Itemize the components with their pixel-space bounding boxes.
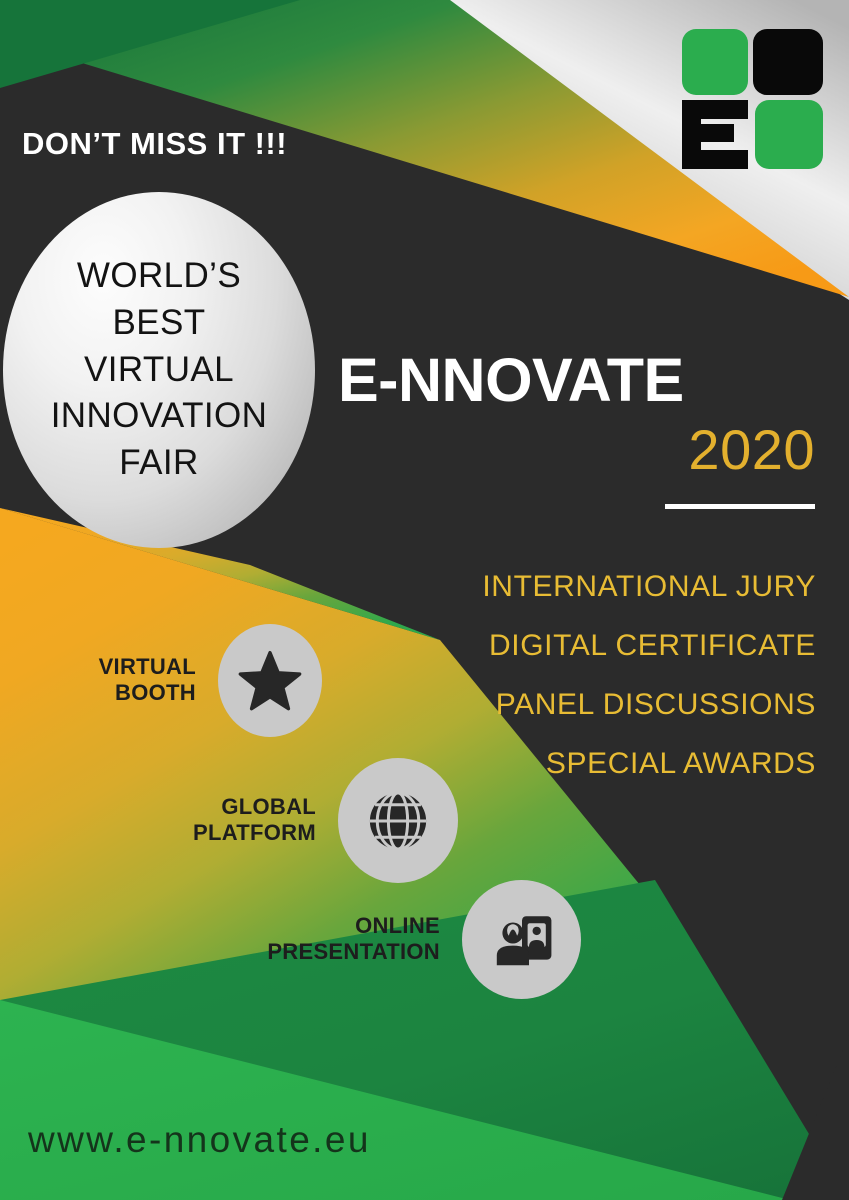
logo-tile-black-top-right xyxy=(753,29,823,95)
highlight-virtual-booth: VIRTUAL BOOTH xyxy=(218,624,322,737)
highlight-label-virtual-booth: VIRTUAL BOOTH xyxy=(99,654,196,708)
highlight-label-line1: GLOBAL xyxy=(193,794,316,821)
highlight-disc xyxy=(462,880,581,999)
globe-icon xyxy=(361,784,435,858)
highlight-disc xyxy=(218,624,322,737)
highlight-label-line2: PLATFORM xyxy=(193,821,316,848)
title-divider xyxy=(665,504,815,509)
badge-line-1: WORLD’S xyxy=(51,253,268,300)
feature-item-panel-discussions: PANEL DISCUSSIONS xyxy=(482,690,816,720)
e-nnovate-logo xyxy=(681,28,824,170)
event-title: E-NNOVATE xyxy=(338,350,820,411)
logo-tile-green-top-left xyxy=(682,29,748,95)
highlight-online-presentation: ONLINE PRESENTATION xyxy=(462,880,581,999)
logo-mark xyxy=(681,28,824,170)
highlight-disc xyxy=(338,758,458,883)
badge-line-4: INNOVATION xyxy=(51,393,268,440)
star-icon xyxy=(237,648,303,714)
video-call-icon xyxy=(487,905,557,975)
brand-block: E-NNOVATE 2020 xyxy=(330,350,820,509)
highlight-label-line1: ONLINE xyxy=(267,913,440,940)
website-url[interactable]: www.e-nnovate.eu xyxy=(28,1119,371,1161)
highlight-label-line2: PRESENTATION xyxy=(267,940,440,967)
logo-tile-green-bottom-right xyxy=(755,100,823,169)
highlight-label-global-platform: GLOBAL PLATFORM xyxy=(193,794,316,848)
feature-list: INTERNATIONAL JURY DIGITAL CERTIFICATE P… xyxy=(482,572,816,808)
world-best-badge: WORLD’S BEST VIRTUAL INNOVATION FAIR xyxy=(3,192,315,548)
badge-line-3: VIRTUAL xyxy=(51,347,268,394)
feature-item-digital-certificate: DIGITAL CERTIFICATE xyxy=(482,631,816,661)
badge-line-5: FAIR xyxy=(51,440,268,487)
highlight-global-platform: GLOBAL PLATFORM xyxy=(338,758,458,883)
poster-canvas: DON’T MISS IT !!! WORLD’S BEST VIRTUAL I… xyxy=(0,0,849,1200)
feature-item-special-awards: SPECIAL AWARDS xyxy=(482,749,816,779)
feature-item-international-jury: INTERNATIONAL JURY xyxy=(482,572,816,602)
badge-line-2: BEST xyxy=(51,300,268,347)
logo-letter-e xyxy=(682,100,748,169)
highlight-label-line2: BOOTH xyxy=(99,681,196,708)
teaser-headline: DON’T MISS IT !!! xyxy=(22,126,287,162)
event-year: 2020 xyxy=(330,421,815,480)
badge-text-block: WORLD’S BEST VIRTUAL INNOVATION FAIR xyxy=(51,253,268,487)
highlight-label-online-presentation: ONLINE PRESENTATION xyxy=(267,913,440,967)
highlight-label-line1: VIRTUAL xyxy=(99,654,196,681)
